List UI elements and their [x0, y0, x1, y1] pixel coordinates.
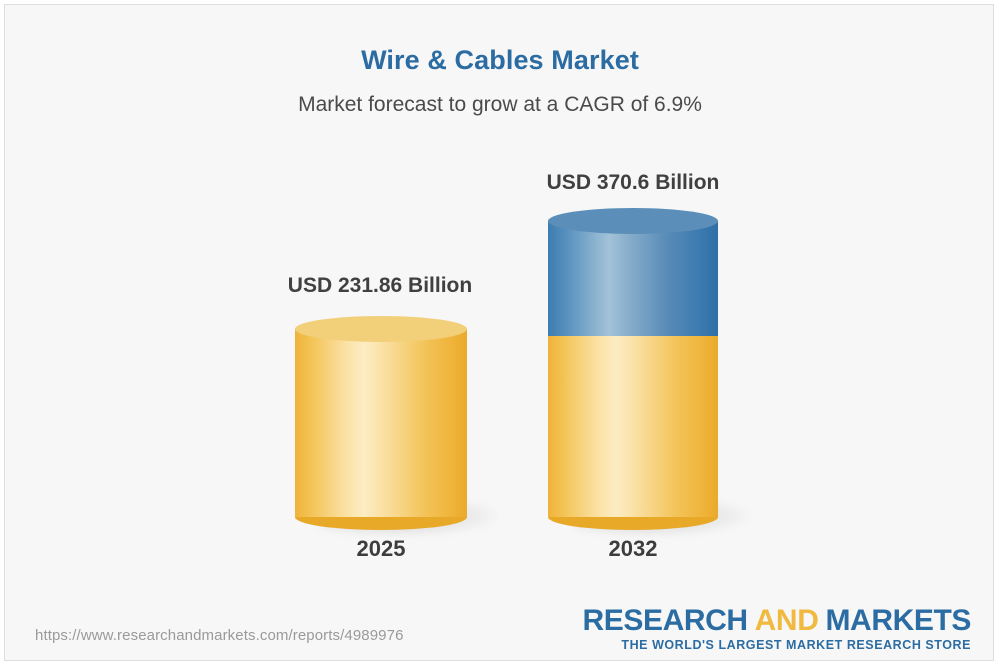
value-label-2032: USD 370.6 Billion: [498, 171, 768, 195]
chart-subtitle: Market forecast to grow at a CAGR of 6.9…: [5, 93, 994, 117]
logo-wordmark: RESEARCHANDMARKETS: [583, 605, 971, 637]
bar-body-upper-2032: [548, 221, 718, 336]
bar-cylinder-2025: [295, 316, 467, 517]
logo-word-markets: MARKETS: [825, 604, 971, 637]
logo-word-research: RESEARCH: [583, 604, 748, 637]
research-and-markets-logo[interactable]: RESEARCHANDMARKETS THE WORLD'S LARGEST M…: [583, 605, 971, 653]
bar-body-2025: [295, 329, 467, 517]
bar-cylinder-2032: [548, 208, 718, 517]
bar-top-ellipse-2032: [548, 208, 718, 234]
chart-title: Wire & Cables Market: [5, 45, 994, 76]
chart-card: Wire & Cables Market Market forecast to …: [4, 4, 994, 661]
category-label-2025: 2025: [295, 536, 467, 562]
logo-tagline: THE WORLD'S LARGEST MARKET RESEARCH STOR…: [583, 637, 971, 653]
source-url[interactable]: https://www.researchandmarkets.com/repor…: [35, 627, 404, 644]
bar-top-ellipse-2025: [295, 316, 467, 342]
logo-word-and: AND: [755, 604, 819, 637]
category-label-2032: 2032: [548, 536, 718, 562]
value-label-2025: USD 231.86 Billion: [245, 274, 515, 298]
bar-body-lower-2032: [548, 336, 718, 517]
